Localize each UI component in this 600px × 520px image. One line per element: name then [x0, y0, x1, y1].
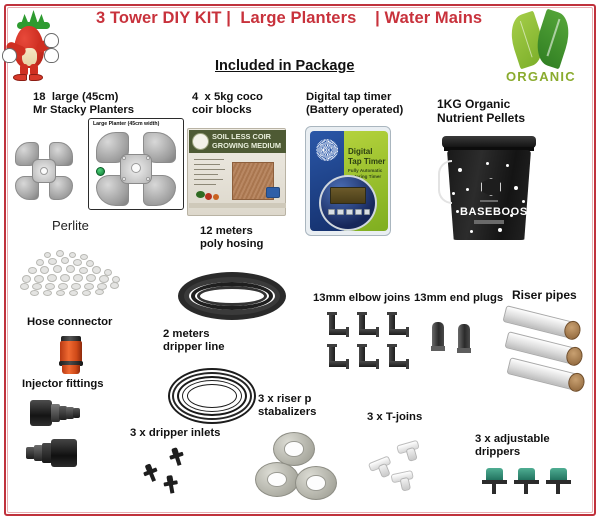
- t-joins-art: [370, 437, 450, 493]
- label-perlite: Perlite: [52, 219, 89, 234]
- coir-package-art: SOIL LESS COIR GROWING MEDIUM: [187, 128, 286, 216]
- label-hose-connector: Hose connector: [27, 316, 112, 329]
- planter-large-box: Large Planter (45cm width): [88, 118, 184, 210]
- chilli-mascot-icon: [0, 0, 86, 95]
- label-elbows: 13mm elbow joins: [313, 292, 410, 305]
- organic-logo: ORGANIC: [500, 8, 590, 92]
- label-dripper-line: 2 meters dripper line: [163, 328, 225, 354]
- planter-box-caption: Large Planter (45cm width): [93, 122, 159, 128]
- end-plugs-art: [432, 318, 492, 362]
- label-t-joins: 3 x T-joins: [367, 411, 422, 424]
- label-dripper-inlets: 3 x dripper inlets: [130, 427, 220, 440]
- label-planters: 18 large (45cm) Mr Stacky Planters: [33, 91, 134, 117]
- kit-contents-poster: 3 Tower DIY KIT | Large Planters | Water…: [0, 0, 600, 520]
- elbow-joins-art: [326, 312, 416, 374]
- timer-pack-line2: Tap Timer: [348, 157, 386, 166]
- label-riser-pipes: Riser pipes: [512, 289, 577, 303]
- adjustable-drippers-art: [482, 468, 578, 502]
- label-pellets: 1KG Organic Nutrient Pellets: [437, 98, 525, 126]
- tap-timer-package-art: Digital Tap Timer Fully Automatic Wateri…: [305, 126, 391, 236]
- timer-pack-line1: Digital: [348, 147, 372, 156]
- section-heading: Included in Package: [215, 58, 354, 75]
- organic-label: ORGANIC: [506, 70, 576, 85]
- riser-pipes-art: [503, 310, 595, 400]
- nutrient-bucket-art: BASEBOOST: [436, 136, 542, 244]
- planter-small-art: [13, 140, 75, 202]
- riser-stabilizers-art: [255, 432, 365, 502]
- label-polyhose: 12 meters poly hosing: [200, 225, 263, 251]
- label-end-plugs: 13mm end plugs: [414, 292, 503, 305]
- hose-connector-art: [55, 336, 95, 378]
- perlite-pile-art: [14, 246, 132, 300]
- label-timer: Digital tap timer (Battery operated): [306, 91, 403, 117]
- label-injector: Injector fittings: [22, 378, 104, 391]
- planter-large-art: [95, 131, 177, 207]
- planter-green-dot: [96, 167, 105, 176]
- label-coir: 4 x 5kg coco coir blocks: [192, 91, 263, 117]
- label-drippers: 3 x adjustable drippers: [475, 433, 550, 459]
- bucket-handle: [438, 160, 452, 204]
- dripper-inlets-art: [140, 447, 220, 499]
- label-stabilizers: 3 x riser p stabalizers: [258, 393, 316, 419]
- poly-hose-coil-art: [178, 272, 288, 328]
- timer-dial-art: [319, 175, 377, 231]
- dripper-line-coil-art: [168, 368, 264, 428]
- bucket-brand-word: BASEBOOST: [460, 206, 535, 218]
- injector-fitting-art-2: [26, 437, 106, 483]
- coir-pack-line2: GROWING MEDIUM: [212, 141, 281, 150]
- coir-pack-line1: SOIL LESS COIR: [212, 132, 271, 141]
- page-title: 3 Tower DIY KIT | Large Planters | Water…: [96, 9, 482, 28]
